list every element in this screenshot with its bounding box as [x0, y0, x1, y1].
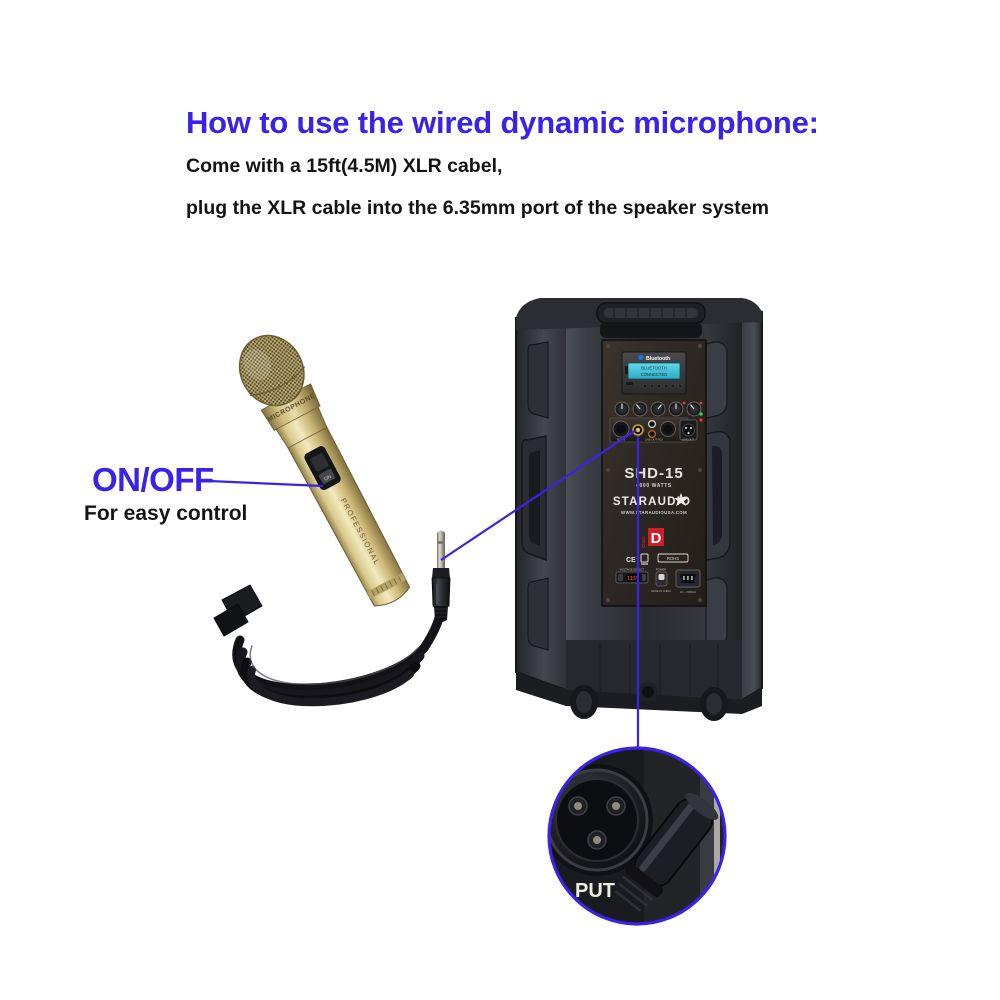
led-clip	[699, 418, 702, 421]
knob-line[interactable]	[651, 402, 665, 416]
pole-socket	[638, 682, 658, 702]
infographic-canvas: How to use the wired dynamic microphone:…	[0, 0, 1000, 1000]
top-handle[interactable]	[597, 303, 705, 338]
handle-recess-upper-right	[706, 342, 727, 418]
jack-line-out-xlr[interactable]	[680, 420, 697, 440]
handle-recess-upper-left	[528, 342, 548, 418]
led-power	[699, 412, 702, 415]
voltage-select-label: VOLTAGE SELECT	[620, 568, 645, 572]
microphone-body-group: PROFESSIONAL ON	[228, 324, 422, 615]
side-handle-right[interactable]	[706, 432, 730, 560]
jack-mic-2-in[interactable]	[661, 422, 676, 437]
bluetooth-icon	[638, 355, 643, 360]
power-switch-label: POWER	[656, 568, 667, 572]
bluetooth-module[interactable]: Bluetooth BLUETOOTH CONNECTED	[622, 352, 686, 394]
handle-recess-lower-right	[706, 578, 727, 650]
knob-mic-2[interactable]	[633, 402, 647, 416]
rohs-text: ROHS	[667, 556, 679, 561]
class-d-small-label: Class	[641, 536, 646, 548]
cabinet-right-side	[742, 300, 762, 700]
microphone-xlr-tail	[214, 585, 262, 636]
lcd-line-1: BLUETOOTH	[641, 366, 667, 371]
product-illustration: Bluetooth BLUETOOTH CONNECTED	[0, 0, 1000, 1000]
voltage-selector[interactable]: 115V	[616, 572, 648, 583]
power-switch[interactable]	[656, 572, 667, 586]
quarter-inch-plug	[432, 531, 450, 623]
lcd-line-2: CONNECTED	[641, 372, 668, 377]
jack-label-line-out: LINE OUT	[682, 438, 694, 442]
class-d-letter: D	[651, 530, 662, 547]
iec-power-inlet[interactable]	[676, 570, 700, 587]
ac-label: AC ~ 50/60Hz	[680, 590, 697, 594]
made-in-label: MADE IN CHINA	[651, 589, 671, 593]
power-rating: 4000 WATTS	[636, 483, 672, 489]
bluetooth-label: Bluetooth	[646, 356, 670, 362]
wheel-right	[700, 687, 728, 721]
amplifier-control-panel: Bluetooth BLUETOOTH CONNECTED	[602, 340, 706, 606]
brand-website: WWW.STARAUDIOUSA.COM	[621, 510, 687, 515]
magnifier-detail: PUT	[541, 748, 725, 924]
wired-dynamic-microphone: PROFESSIONAL ON	[214, 324, 450, 702]
magnifier-port-label: PUT	[575, 880, 615, 902]
microphone-cable	[237, 608, 441, 702]
ce-mark: CE	[626, 557, 636, 564]
jack-label-rca: LINE OUT RCA	[645, 438, 663, 442]
wheel-left	[570, 685, 598, 719]
usb-slot[interactable]	[625, 366, 628, 374]
aux-slot[interactable]	[626, 382, 633, 385]
model-number: SHD-15	[624, 465, 683, 482]
callout-line-onoff	[209, 481, 323, 486]
jack-mic-in[interactable]	[613, 421, 629, 437]
knob-mic-1[interactable]	[615, 402, 629, 416]
handle-recess-lower-left	[528, 578, 548, 650]
